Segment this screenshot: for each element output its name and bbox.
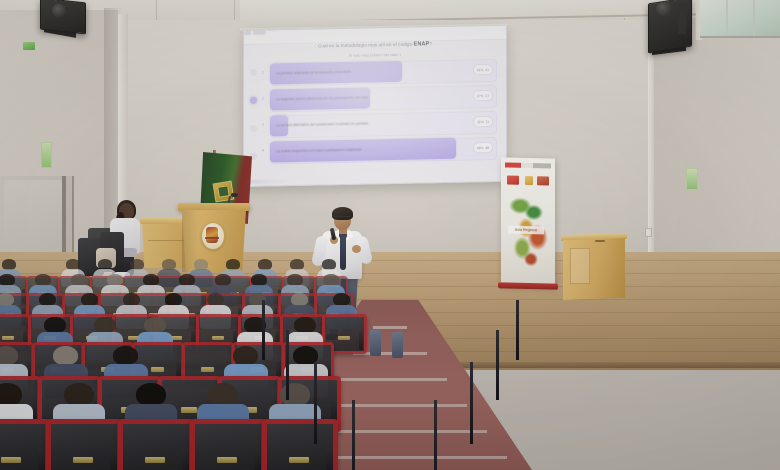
seat-armrest	[254, 448, 261, 470]
podium-emblem-shield	[206, 227, 218, 243]
slide-result-votes: 11	[486, 120, 489, 124]
audience-member-head	[64, 383, 94, 406]
seat-armrest	[182, 448, 189, 470]
podium-mic-head-icon	[231, 193, 238, 197]
seat-number-plate	[212, 336, 224, 340]
slide-result-index: 2	[262, 97, 264, 101]
slide-dot-1[interactable]	[250, 69, 257, 76]
seat-number-plate	[217, 457, 237, 463]
slide-result-index: 1	[262, 71, 264, 75]
slide-result-badge: 27%27	[473, 90, 493, 101]
slide-topbar-controls-icon	[244, 31, 266, 35]
auditorium-photo: Cual es la metodologia mas util en el co…	[0, 0, 780, 470]
slide-result-row[interactable]: 2La segunda opcion planteada por los par…	[262, 84, 497, 112]
presenter-hand-right	[352, 245, 361, 253]
seat-number-plate	[151, 367, 165, 371]
audience-member-head	[44, 317, 65, 333]
safety-sign-right	[686, 168, 698, 190]
logo-center	[525, 176, 533, 185]
cabinet-handle	[595, 240, 605, 242]
slide-result-percent: 46%	[477, 146, 484, 150]
slide-result-row[interactable]: 4La cuarta respuesta con mayor participa…	[262, 136, 497, 164]
seat-number-plate	[145, 457, 165, 463]
slide-result-badge: 46%46	[473, 142, 493, 153]
presenter-tie	[340, 234, 346, 270]
slide-dot-2[interactable]	[250, 97, 257, 104]
slide-result-index: 3	[262, 123, 264, 127]
slide-question-suffix: ?	[429, 41, 432, 46]
seat-number-plate	[73, 457, 93, 463]
seat-armrest	[110, 448, 117, 470]
aisle-rail-post	[352, 400, 355, 470]
aisle-rail-post	[434, 400, 437, 470]
aisle-rail-post	[262, 300, 265, 360]
seat-armrest	[38, 448, 45, 470]
slide-results-list: 1La primera respuesta de la encuesta pre…	[262, 58, 497, 167]
logo-right	[537, 176, 549, 185]
seat-armrest	[359, 331, 363, 350]
slide-result-badge: 11%11	[473, 116, 493, 127]
speaker-cone-right-icon	[656, 2, 672, 16]
aisle-rail-post	[286, 330, 289, 400]
aisle-walker-legs	[392, 332, 403, 358]
audience-member-head	[94, 317, 115, 333]
banner-logos	[505, 175, 551, 186]
audience-member-head	[53, 346, 78, 365]
slide-result-percent: 11%	[477, 120, 483, 124]
audience-member-head	[113, 346, 138, 365]
slide-dot-3[interactable]	[250, 125, 257, 132]
audience-seating	[0, 268, 780, 470]
seat-number-plate	[2, 336, 14, 340]
audience-member-head	[233, 346, 258, 365]
slide-result-votes: 27	[485, 94, 489, 98]
seat-armrest	[326, 448, 333, 470]
slide-result-index: 4	[262, 149, 264, 153]
slide-result-badge: 41%41	[473, 64, 493, 75]
flag-emblem-center	[217, 185, 230, 198]
speaker-port-right	[678, 4, 686, 34]
projection-screen: Cual es la metodologia mas util en el co…	[243, 25, 507, 187]
upper-right-windows	[700, 0, 780, 38]
seat-number-plate	[1, 457, 21, 463]
safety-sign-left	[41, 142, 52, 168]
aisle-rail-post	[496, 330, 499, 400]
audience-member-head	[294, 317, 315, 333]
seat-number-plate	[338, 336, 350, 340]
slide-result-votes: 41	[485, 68, 489, 72]
banner-caption: Aula Regional	[508, 226, 544, 235]
speaker-cone-left-icon	[52, 4, 66, 17]
seat-number-plate	[181, 407, 198, 412]
aisle-rail-post	[516, 300, 519, 360]
slide-question-brand: ENAP	[414, 41, 430, 47]
slide-footer	[248, 179, 288, 184]
podium-emblem-base	[205, 237, 219, 239]
wall-outlet-box	[645, 228, 652, 237]
presenter-glasses-icon	[334, 216, 350, 220]
aisle-rail-post	[470, 362, 473, 444]
slide-question-text: Cual es la metodologia mas util en el co…	[318, 42, 414, 49]
audience-member-head	[280, 383, 310, 406]
slide-result-row[interactable]: 3La tercera alternativa del cuestionario…	[262, 110, 497, 138]
logo-red-left	[507, 175, 519, 184]
seat-number-plate	[289, 457, 309, 463]
aisle-walker-legs	[370, 330, 381, 356]
slide-result-row[interactable]: 1La primera respuesta de la encuesta pre…	[262, 58, 497, 86]
audience-member-head	[208, 383, 238, 406]
slide-result-percent: 41%	[477, 68, 484, 72]
exit-sign	[23, 42, 35, 50]
slide-result-votes: 46	[485, 146, 489, 150]
audience-member-head	[144, 317, 165, 333]
slide-result-percent: 27%	[477, 94, 484, 98]
seat-number-plate	[201, 367, 215, 371]
aisle-rail-post	[314, 362, 317, 444]
audience-member-head	[136, 383, 166, 406]
